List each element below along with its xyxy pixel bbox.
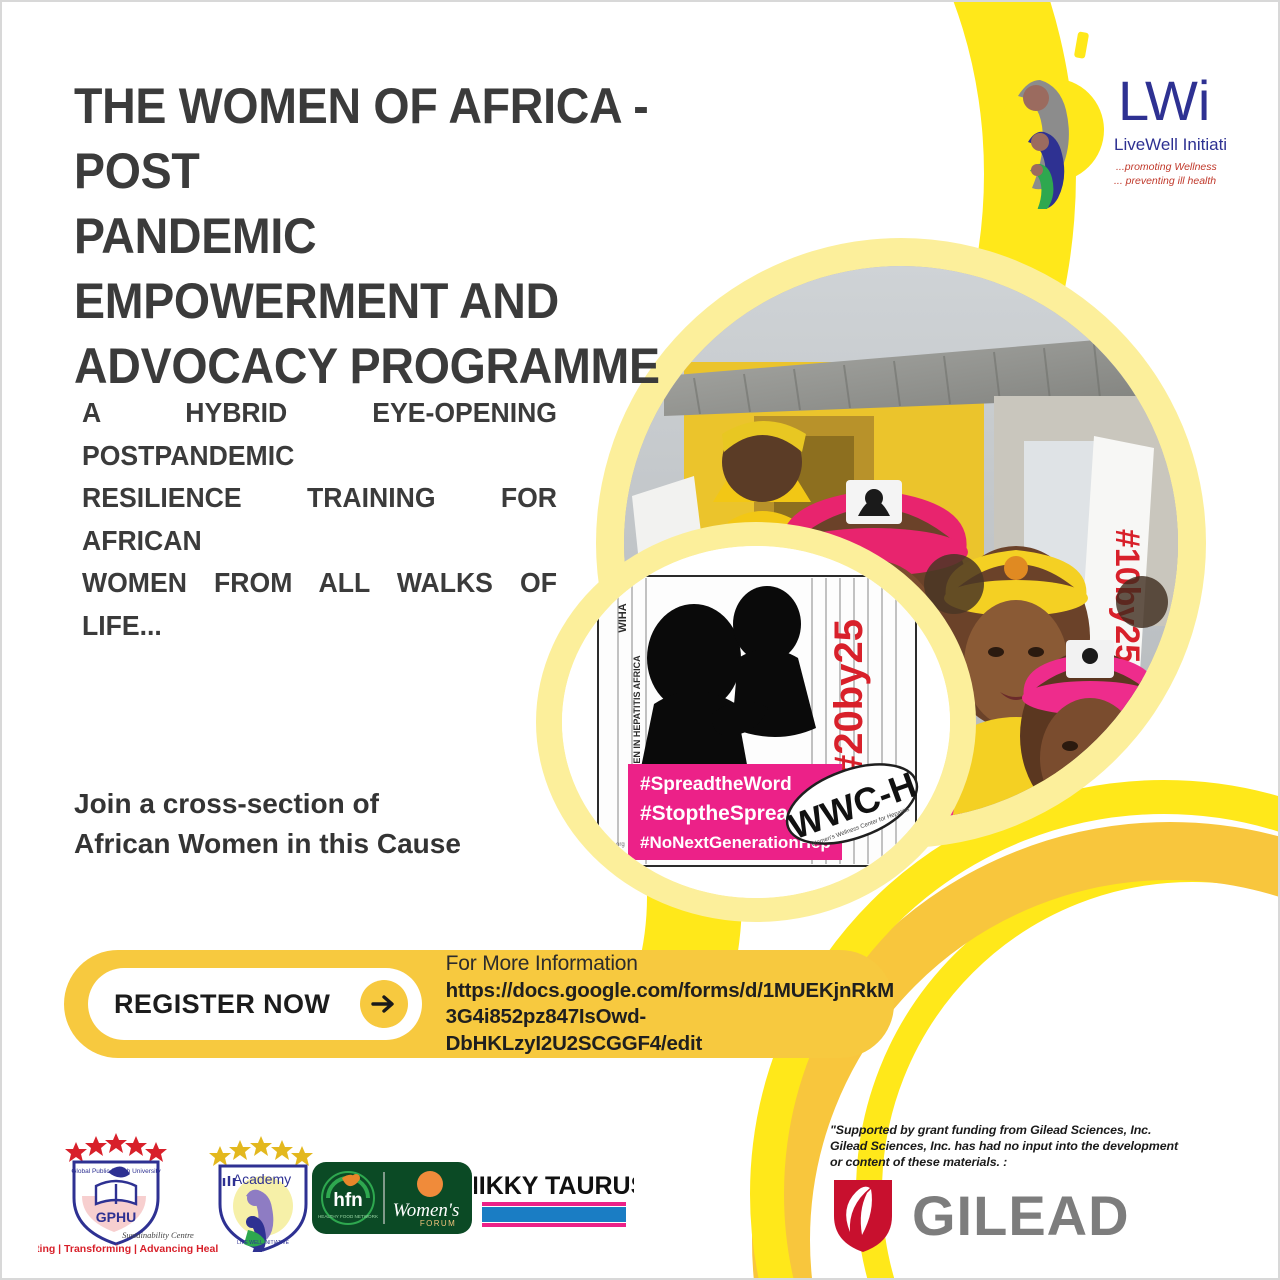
hfn-acronym: hfn bbox=[333, 1190, 363, 1211]
womens-label: Women's bbox=[393, 1200, 460, 1221]
svg-text:WIHA: WIHA bbox=[617, 603, 629, 632]
more-information-heading: For More Information bbox=[446, 950, 894, 977]
disclaimer-line-1: "Supported by grant funding from Gilead … bbox=[830, 1122, 1230, 1138]
register-now-label: REGISTER NOW bbox=[114, 989, 330, 1020]
more-information-block: For More Information https://docs.google… bbox=[446, 950, 894, 1057]
registration-url-line-2[interactable]: 3G4i852pz847IsOwd-DbHKLzyI2U2SCGGF4/edit bbox=[446, 1004, 894, 1057]
inner-photo-ring: WOMEN IN HEPATITIS AFRICA WIHA #20by25 #… bbox=[536, 522, 976, 922]
nikky-taurus-logo-svg: NIKKY TAURUS bbox=[474, 1168, 634, 1232]
gphu-subtitle: Sustainability Centre bbox=[122, 1230, 194, 1240]
lwi-academy-logo: Academy LIVE WELL INITIATIVE bbox=[198, 1128, 328, 1257]
disclaimer-line-2: Gilead Sciences, Inc. has had no input i… bbox=[830, 1138, 1230, 1154]
svg-text:#SpreadtheWord: #SpreadtheWord bbox=[640, 774, 792, 795]
partner-logo-row: GPHU Global Public Health University Sus… bbox=[2, 1110, 1280, 1280]
flyer-canvas: THE WOMEN OF AFRICA - POST PANDEMIC EMPO… bbox=[0, 0, 1280, 1280]
funding-disclaimer: "Supported by grant funding from Gilead … bbox=[830, 1122, 1230, 1170]
svg-text:#StoptheSpread: #StoptheSpread bbox=[640, 802, 801, 825]
register-banner: REGISTER NOW For More Information https:… bbox=[64, 950, 894, 1058]
lwi-logo: LWi LiveWell Initiative ...promoting Wel… bbox=[996, 24, 1226, 214]
call-to-join-text: Join a cross-section of African Women in… bbox=[74, 784, 544, 864]
gphu-slogan: Innovating | Transforming | Advancing He… bbox=[38, 1243, 218, 1255]
arrow-right-icon bbox=[360, 980, 408, 1028]
gphu-logo: GPHU Global Public Health University Sus… bbox=[38, 1126, 218, 1261]
headline-line-1: THE WOMEN OF AFRICA - POST bbox=[74, 74, 669, 204]
page-title: THE WOMEN OF AFRICA - POST PANDEMIC EMPO… bbox=[74, 74, 669, 399]
gphu-logo-svg: GPHU Global Public Health University Sus… bbox=[38, 1126, 218, 1256]
headline-line-3: ADVOCACY PROGRAMME bbox=[74, 334, 669, 399]
forum-label: FORUM bbox=[420, 1219, 456, 1228]
campaign-poster-illustration: WOMEN IN HEPATITIS AFRICA WIHA #20by25 #… bbox=[562, 546, 950, 898]
svg-text:#20by25: #20by25 bbox=[827, 619, 871, 777]
subtitle-line-3: WOMEN FROM ALL WALKS OF LIFE... bbox=[82, 562, 557, 647]
headline-line-2: PANDEMIC EMPOWERMENT AND bbox=[74, 204, 669, 334]
nikky-taurus-wordmark: NIKKY TAURUS bbox=[474, 1172, 634, 1200]
svg-text:HEALTHY FOOD NETWORK: HEALTHY FOOD NETWORK bbox=[318, 1214, 379, 1219]
subtitle-line-2: RESILIENCE TRAINING FOR AFRICAN bbox=[82, 477, 557, 562]
svg-text:LiveWell Initiative: LiveWell Initiative bbox=[1114, 135, 1226, 154]
gilead-logo: GILEAD bbox=[830, 1176, 1230, 1254]
gphu-acronym: GPHU bbox=[96, 1209, 136, 1225]
hfn-womens-forum-logo: hfn HEALTHY FOOD NETWORK Women's FORUM bbox=[312, 1162, 472, 1239]
svg-text:LIVE WELL INITIATIVE: LIVE WELL INITIATIVE bbox=[237, 1240, 290, 1246]
lwi-logo-svg: LWi LiveWell Initiative ...promoting Wel… bbox=[996, 24, 1226, 209]
nikky-taurus-logo: NIKKY TAURUS bbox=[474, 1168, 634, 1237]
svg-text:Global Public Health Universit: Global Public Health University bbox=[71, 1168, 161, 1175]
gilead-wordmark: GILEAD bbox=[912, 1183, 1130, 1248]
gilead-funder-block: "Supported by grant funding from Gilead … bbox=[830, 1122, 1230, 1254]
svg-text:...promoting Wellness: ...promoting Wellness bbox=[1116, 161, 1218, 173]
academy-label: Academy bbox=[233, 1171, 291, 1187]
svg-text:... preventing ill health: ... preventing ill health bbox=[1114, 175, 1216, 187]
campaign-poster-photo: WOMEN IN HEPATITIS AFRICA WIHA #20by25 #… bbox=[562, 546, 950, 898]
svg-text:wiha.org: wiha.org bbox=[601, 842, 625, 848]
join-line-1: Join a cross-section of bbox=[74, 784, 544, 824]
registration-url-line-1[interactable]: https://docs.google.com/forms/d/1MUEKjnR… bbox=[446, 978, 894, 1005]
subtitle-line-1: A HYBRID EYE-OPENING POSTPANDEMIC bbox=[82, 392, 557, 477]
subtitle: A HYBRID EYE-OPENING POSTPANDEMIC RESILI… bbox=[82, 392, 557, 647]
disclaimer-line-3: or content of these materials. : bbox=[830, 1154, 1230, 1170]
join-line-2: African Women in this Cause bbox=[74, 824, 544, 864]
lwi-wordmark: LWi bbox=[1118, 69, 1210, 132]
lwi-academy-logo-svg: Academy LIVE WELL INITIATIVE bbox=[198, 1128, 328, 1252]
hfn-womens-forum-svg: hfn HEALTHY FOOD NETWORK Women's FORUM bbox=[312, 1162, 472, 1234]
gilead-shield-icon bbox=[830, 1176, 896, 1254]
register-now-button[interactable]: REGISTER NOW bbox=[88, 968, 422, 1040]
